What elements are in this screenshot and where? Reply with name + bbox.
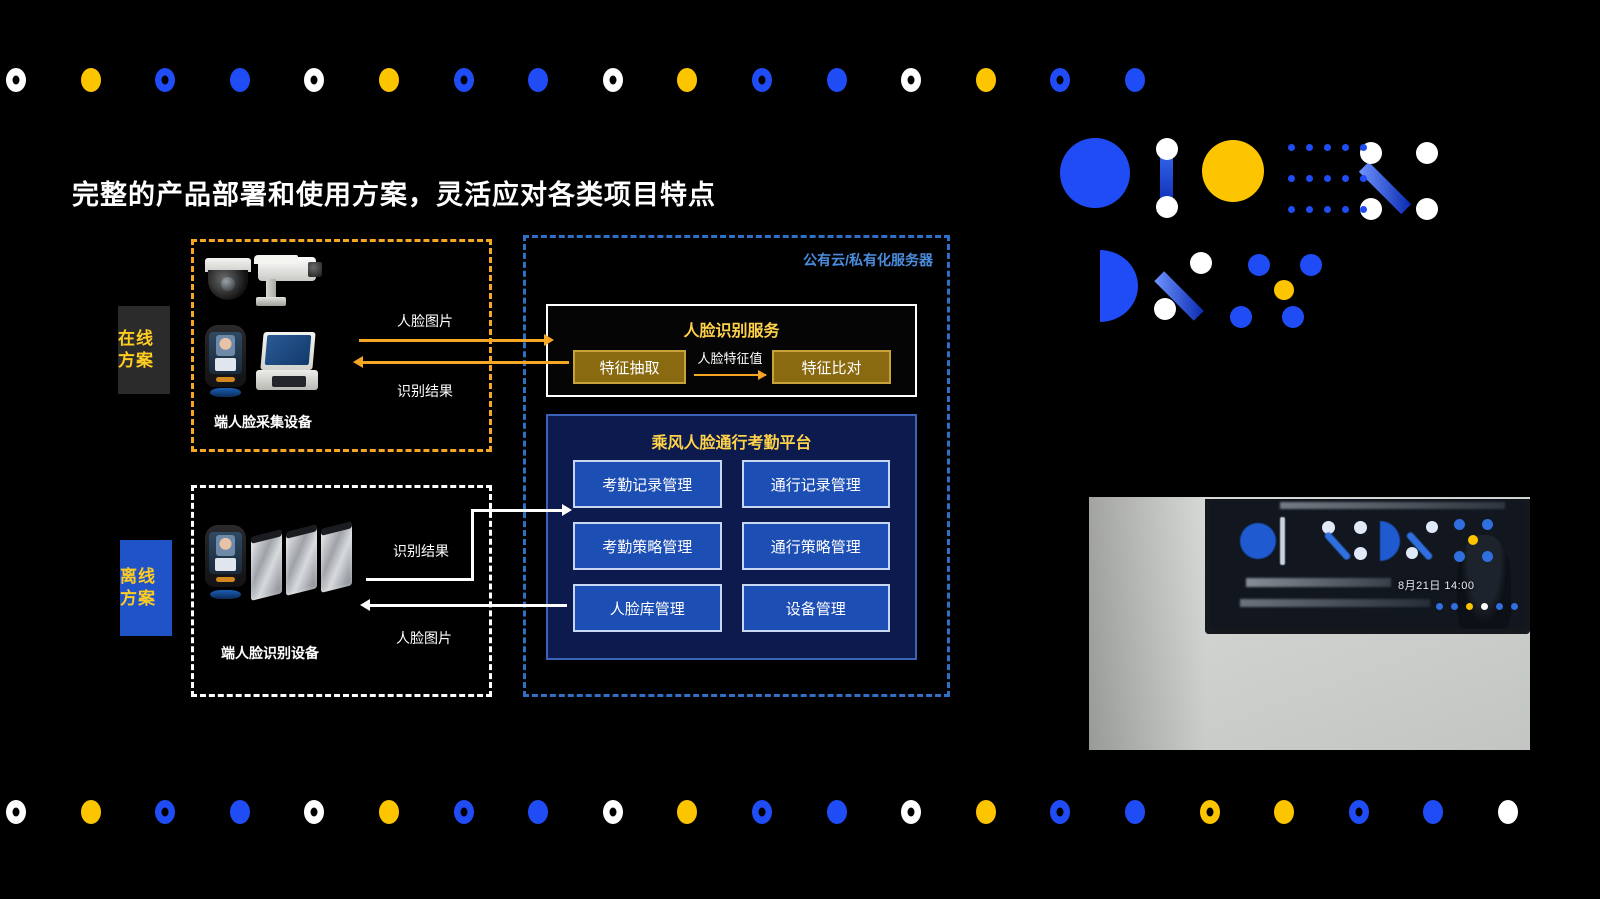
decorative-dot [230,68,250,92]
decorative-dot [1274,800,1294,824]
platform-module-grid: 考勤记录管理通行记录管理考勤策略管理通行策略管理人脸库管理设备管理 [573,460,890,632]
decorative-grid-dot [1324,144,1331,151]
diamond-dot-tl [1248,254,1270,276]
online-face-image-label: 人脸图片 [397,311,453,331]
dome-camera-image [205,258,251,302]
face-recognition-service-title: 人脸识别服务 [548,317,915,341]
screen-dot-f [1454,519,1465,530]
decorative-dot [1200,800,1220,824]
platform-module-3[interactable]: 考勤策略管理 [573,522,722,570]
diag1-cap-d [1416,198,1438,220]
decorative-dot [677,800,697,824]
offline-result-label: 识别结果 [393,541,449,561]
decorative-dot [454,68,474,92]
decorative-dot [155,800,175,824]
decorative-dot [1423,800,1443,824]
screen-caption-blur [1246,578,1391,587]
online-device-caption: 端人脸采集设备 [214,412,312,432]
screen-footer-blur [1240,599,1430,607]
platform-module-6[interactable]: 设备管理 [742,584,891,632]
offline-face-image-arrow-head-icon [360,599,370,611]
bar-cap-top [1156,138,1178,160]
screen-content: 8月21日 14:00 [1210,499,1525,629]
screen-footer-dot [1481,603,1488,610]
bar-cap-bottom [1156,196,1178,218]
decorative-dot [230,800,250,824]
decorative-dot [155,68,175,92]
screen-dot-h [1454,551,1465,562]
diamond-dot-br [1282,306,1304,328]
decorative-dot [379,800,399,824]
attendance-platform-panel: 乘风人脸通行考勤平台 考勤记录管理通行记录管理考勤策略管理通行策略管理人脸库管理… [546,414,917,660]
speed-gates-image [251,527,355,597]
diamond-dot-tr [1300,254,1322,276]
decorative-dot [827,800,847,824]
attendance-platform-title: 乘风人脸通行考勤平台 [548,429,915,453]
side-label-online: 在线方案 [118,306,170,394]
screen-title-blur [1280,502,1505,509]
decorative-dot [976,800,996,824]
decorative-grid-dot [1306,144,1313,151]
screen-dot-c [1354,547,1367,560]
diag2-cap-bottom [1154,298,1176,320]
screen-dot-i [1482,551,1493,562]
half-circle [1100,250,1138,322]
screen-dot-e [1406,547,1418,559]
decorative-grid-dot [1360,144,1367,151]
screen-diagonal-bar-a [1324,531,1352,561]
platform-module-1[interactable]: 考勤记录管理 [573,460,722,508]
feature-extraction-box[interactable]: 特征抽取 [573,350,686,384]
decorative-dot [81,800,101,824]
screen-footer-dot [1451,603,1458,610]
decorative-dot [1498,800,1518,824]
decorative-dot [304,68,324,92]
offline-face-image-arrow-line [369,604,567,607]
slide-canvas: 完整的产品部署和使用方案，灵活应对各类项目特点 在线方案 离线方案 端人脸采集设… [0,0,1600,899]
decorative-dot [1050,800,1070,824]
offline-result-arrow-segment-1 [366,578,474,581]
decorative-dot [528,800,548,824]
screen-dot-b [1354,521,1367,534]
screen-footer-dot [1466,603,1473,610]
decorative-dot-row-bottom [0,800,1600,834]
cloud-server-title: 公有云/私有化服务器 [803,250,933,270]
screen-blue-circle [1240,523,1276,559]
diag2-cap-top [1190,252,1212,274]
face-terminal-image-online [205,325,246,397]
projected-screen: 8月21日 14:00 [1205,499,1530,634]
side-label-offline-text: 离线方案 [120,566,172,610]
offline-result-arrow-segment-3 [471,509,566,512]
side-label-online-text: 在线方案 [118,328,170,372]
online-result-arrow-line [362,361,569,364]
screen-footer-dot [1526,603,1530,610]
decorative-dot [379,68,399,92]
diag1-cap-c [1416,142,1438,164]
decorative-grid-dot [1360,206,1367,213]
screen-footer-dot [1511,603,1518,610]
face-feature-value-label: 人脸特征值 [694,348,766,367]
decorative-dot [1125,800,1145,824]
platform-module-2[interactable]: 通行记录管理 [742,460,891,508]
decorative-dot [304,800,324,824]
decorative-grid-dot [1360,175,1367,182]
face-terminal-image-offline [205,525,246,599]
decorative-dot [1050,68,1070,92]
decorative-dot [752,68,772,92]
platform-module-5[interactable]: 人脸库管理 [573,584,722,632]
decorative-dot [901,68,921,92]
big-blue-circle [1060,138,1130,208]
screen-dot-d [1426,521,1438,533]
decorative-dot [1349,800,1369,824]
feature-flow-arrow-icon [694,374,766,376]
decorative-grid-dot [1306,175,1313,182]
decorative-dot [901,800,921,824]
diamond-dot-bl [1230,306,1252,328]
decorative-dot [528,68,548,92]
screen-footer-dot [1436,603,1443,610]
decorative-dot [827,68,847,92]
decorative-dot [752,800,772,824]
screen-dot-yellow [1468,535,1478,545]
decorative-shape-cluster [1060,120,1450,350]
screen-vertical-bar [1280,517,1285,565]
decorative-grid-dot [1306,206,1313,213]
online-face-image-arrow-line [359,339,546,342]
platform-module-4[interactable]: 通行策略管理 [742,522,891,570]
presentation-room-camera-feed: 8月21日 14:00 [1089,497,1530,750]
decorative-dot-row-top [0,68,1600,102]
decorative-dot [603,68,623,92]
online-face-image-arrow-head-icon [544,334,554,346]
decorative-dot [603,800,623,824]
desktop-terminal-image [256,332,318,394]
online-result-arrow-head-icon [353,356,363,368]
decorative-dot [6,68,26,92]
offline-face-image-label: 人脸图片 [396,628,452,648]
decorative-grid-dot [1288,206,1295,213]
decorative-dot [677,68,697,92]
decorative-dot [454,800,474,824]
decorative-dot [976,68,996,92]
yellow-circle [1202,140,1264,202]
offline-result-arrow-head-icon [562,504,572,516]
feature-comparison-box[interactable]: 特征比对 [772,350,891,384]
side-label-offline: 离线方案 [120,540,172,636]
wall-shadow [1089,497,1205,750]
screen-half-circle [1380,521,1400,561]
decorative-grid-dot [1324,206,1331,213]
screen-dot-g [1482,519,1493,530]
decorative-grid-dot [1342,175,1349,182]
decorative-grid-dot [1288,175,1295,182]
diamond-dot-center [1274,280,1294,300]
online-result-label: 识别结果 [397,381,453,401]
face-recognition-service-panel: 人脸识别服务 特征抽取 人脸特征值 特征比对 [546,304,917,397]
decorative-grid-dot [1342,144,1349,151]
decorative-grid-dot [1288,144,1295,151]
bullet-camera-image [252,255,326,307]
offline-device-caption: 端人脸识别设备 [221,643,319,663]
page-title: 完整的产品部署和使用方案，灵活应对各类项目特点 [72,173,716,212]
decorative-dot [1125,68,1145,92]
decorative-grid-dot [1324,175,1331,182]
decorative-dot [6,800,26,824]
decorative-dot [81,68,101,92]
decorative-grid-dot [1342,206,1349,213]
screen-time-text: 8月21日 14:00 [1398,577,1474,593]
screen-footer-dot [1496,603,1503,610]
offline-result-arrow-segment-2 [471,509,474,581]
